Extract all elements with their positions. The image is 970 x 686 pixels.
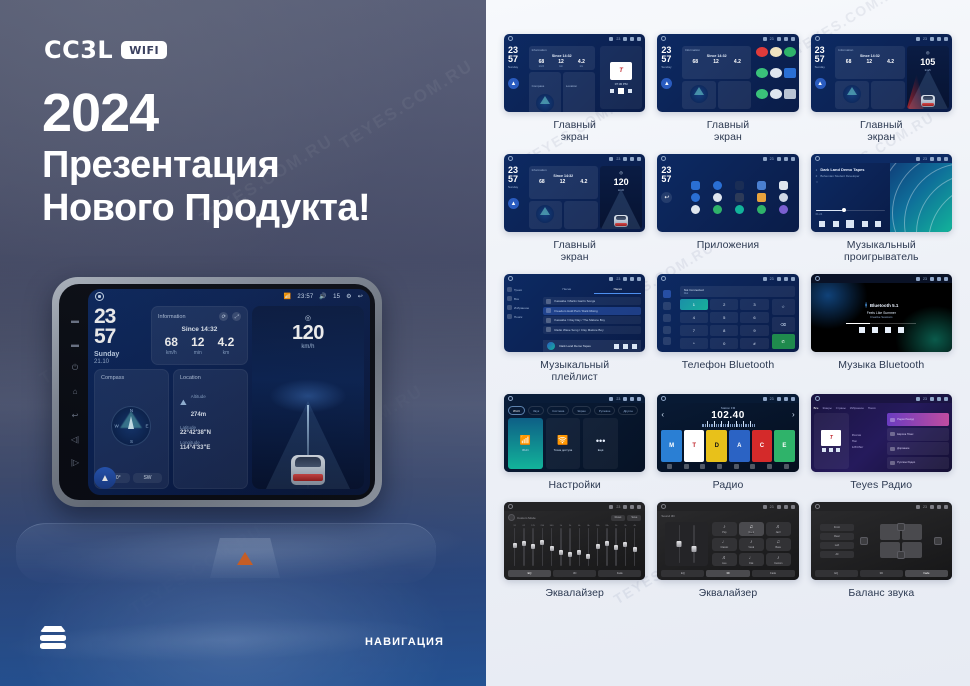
tab-sound[interactable]: Звук <box>528 406 544 415</box>
backspace-icon[interactable]: ⌫ <box>772 317 795 332</box>
slider[interactable] <box>679 525 681 563</box>
list-item[interactable]: Радио Рекорд <box>887 413 949 426</box>
preset-button[interactable]: ♪Pop <box>712 522 737 535</box>
list-item[interactable]: Русское Радио <box>887 457 949 470</box>
all-icon <box>507 296 512 301</box>
location-card[interactable] <box>718 81 752 110</box>
screenshot-home-road-red[interactable]: 23 23 57 Sunday ▲ Information <box>811 34 952 112</box>
back-button[interactable]: ↩ <box>661 192 672 203</box>
dialpad-icon[interactable] <box>663 290 671 298</box>
tab-all[interactable]: Все <box>814 406 819 410</box>
preset-button[interactable]: ♪Custom <box>766 553 791 566</box>
app-item <box>774 205 793 214</box>
preset-buttons[interactable]: ♪Pop ♫Rock ♬Jazz ♩Classic ♪Vocal ♫Bass ♬… <box>712 522 791 566</box>
stat-value: 68 <box>539 179 545 185</box>
preset-tile[interactable]: A <box>729 430 750 462</box>
compass-card[interactable] <box>682 81 716 110</box>
gear-icon[interactable]: ⚙ <box>346 293 352 300</box>
compass-north: N <box>130 408 133 413</box>
head-unit-bezel: ▬ ▬ ⏻ ⌂ ↩ ◁| |▷ <box>59 284 375 500</box>
driving-view-card[interactable]: ◎ 120 km/h <box>600 166 642 229</box>
band-icon <box>667 464 672 469</box>
bluetooth-icon: ᚼ <box>864 303 868 309</box>
location-card[interactable]: Location <box>563 72 595 112</box>
navigation-button[interactable]: ▲ <box>94 467 116 489</box>
location-title: Location <box>180 375 241 381</box>
preset-tile[interactable]: T <box>684 430 705 462</box>
list-item[interactable]: Freedom Hold Part / Dark Rising <box>543 307 641 315</box>
tab-eq[interactable]: EQ <box>815 570 858 577</box>
screenshot-settings[interactable]: 23 Wi-Fi Звук Система Экран Рулевое Друг… <box>504 394 645 472</box>
gallery-row: 23 Custom Mode ResetSave 31 62 <box>504 502 952 599</box>
volume-down-key-icon[interactable]: ◁| <box>71 436 79 444</box>
cell-caption: Баланс звука <box>848 587 914 599</box>
track-artist: Creative Sessions <box>846 315 916 319</box>
settings-icon[interactable] <box>663 337 671 345</box>
back-icon <box>944 37 948 41</box>
altitude-value: 274m <box>191 412 206 418</box>
driving-view-card[interactable]: ◎ 105 km/h <box>907 46 949 109</box>
gallery-cell[interactable]: 23 Треки Все Избранное Поиск Песни <box>504 274 645 383</box>
gallery-cell[interactable]: 23 23 57 Sunday ▲ Information <box>811 34 952 143</box>
compass-card[interactable] <box>529 201 563 230</box>
slider[interactable] <box>693 525 695 563</box>
status-time: 23 <box>616 505 620 509</box>
dial-key[interactable]: 8 <box>710 325 738 336</box>
stat-value: 4.2 <box>734 59 741 65</box>
location-card[interactable] <box>871 81 905 110</box>
pause-icon[interactable] <box>623 344 628 349</box>
preset-tiles[interactable]: M T D A C E <box>661 430 794 462</box>
tab-folders[interactable]: Папки <box>594 287 641 294</box>
settings-icon <box>767 464 772 469</box>
chrome-app-icon <box>691 193 700 202</box>
head-unit-screen[interactable]: 📶 23:57 🔊 15 ⚙ ↩ <box>88 289 370 495</box>
arrow-down-icon[interactable] <box>897 551 905 559</box>
tab-fade[interactable]: Fade <box>905 570 948 577</box>
play-pause-icon[interactable] <box>872 327 878 333</box>
prev-icon[interactable] <box>614 344 619 349</box>
car-illustration <box>921 95 935 107</box>
tab-display[interactable]: Экран <box>572 406 590 415</box>
dial-key[interactable]: 7 <box>680 325 708 336</box>
gallery-cell[interactable]: 23 23 57 Sunday ▲ Information <box>504 34 645 143</box>
more-icon: ••• <box>596 436 605 446</box>
information-card[interactable]: Information Since 14:32 68 12 4.2 <box>835 46 904 79</box>
clock-widget[interactable]: 23 57 Sunday 21.10 <box>94 306 146 365</box>
cell-caption: Главный экран <box>707 119 750 143</box>
rds-icon <box>734 464 739 469</box>
settings-card-hotspot[interactable]: 🛜 Точка доступа <box>546 418 581 469</box>
settings-pane[interactable]: Wi-Fi Звук Система Экран Рулевое Другое <box>504 403 645 472</box>
preset-front[interactable]: Front <box>820 524 855 531</box>
dial-key[interactable]: 4 <box>680 312 708 323</box>
dial-key[interactable]: 5 <box>710 312 738 323</box>
wifi-icon <box>916 157 920 161</box>
gallery-cell[interactable]: 23 23 57 Sunday ▲ Information <box>504 154 645 263</box>
power-key-icon[interactable]: ⏻ <box>72 364 78 372</box>
radio-pane[interactable]: Station FM 102.40 ‹ › <box>657 403 798 472</box>
screenshot-home-road[interactable]: 23 23 57 Sunday ▲ Information <box>504 154 645 232</box>
now-playing-bar[interactable]: Dark Land Demo Tapes <box>543 340 641 352</box>
list-item[interactable]: Европа Плюс <box>887 428 949 441</box>
stat-unit: km <box>578 65 585 68</box>
pause-icon[interactable] <box>618 88 624 94</box>
balance-presets[interactable]: Front Rear Left All <box>820 524 855 558</box>
screenshot-teyes-radio[interactable]: 23 Все Жанры Страны Избранное Поиск <box>811 394 952 472</box>
home-icon <box>815 36 820 41</box>
information-card[interactable]: Information ⟳ ⤢ Since 14:32 <box>151 306 248 365</box>
power-icon <box>784 464 789 469</box>
list-item[interactable]: Kassaba / Clay Day / The Malone Boy <box>543 316 641 324</box>
compass-dial <box>843 85 861 103</box>
cell-caption: Радио <box>713 479 744 491</box>
altitude-label: Altitude <box>191 394 206 399</box>
gallery-cell[interactable]: 23 ᚼBluetooth 5.1 Feels Like Summer Crea… <box>811 274 952 383</box>
next-icon[interactable] <box>628 89 632 93</box>
preset-tile[interactable]: C <box>752 430 773 462</box>
bt-music-pane[interactable]: ᚼBluetooth 5.1 Feels Like Summer Creativ… <box>811 283 952 352</box>
file-manager-app-icon <box>757 193 766 202</box>
eq-mode-tabs[interactable]: EQ 3D Fade <box>661 570 794 577</box>
gallery-cell[interactable]: 23 Not Connected <box>657 274 798 383</box>
preset-button[interactable]: ♪Vocal <box>739 538 764 551</box>
app-item <box>708 181 727 190</box>
next-icon[interactable] <box>862 221 868 227</box>
dial-key[interactable]: 9 <box>740 325 768 336</box>
settings-tabs[interactable]: Wi-Fi Звук Система Экран Рулевое Другое <box>508 406 641 415</box>
gear-icon <box>937 37 941 41</box>
trip-since-label: Since 14:32 <box>532 174 595 178</box>
information-card[interactable]: Information Since 14:32 68km/h 12min 4.2… <box>529 46 595 70</box>
speed-unit: km/h <box>618 188 624 192</box>
radio-toolbar[interactable] <box>661 462 794 469</box>
album-mark: T <box>619 68 623 74</box>
gallery-cell[interactable]: 23 Wi-Fi Звук Система Экран Рулевое Друг… <box>504 394 645 491</box>
preset-button[interactable]: ♫Bass <box>766 538 791 551</box>
back-icon <box>637 37 641 41</box>
location-card[interactable] <box>564 201 598 230</box>
save-button[interactable]: Save <box>627 515 641 521</box>
location-card[interactable]: Location ⛰ Altitude 274m <box>173 369 248 489</box>
trip-since-label: Since 14:32 <box>838 54 901 58</box>
bluetooth-icon[interactable] <box>663 302 671 310</box>
expand-icon[interactable]: ⤢ <box>232 312 241 321</box>
station-list[interactable]: Радио Рекорд Европа Плюс Дорожное Русско… <box>887 413 949 469</box>
list-item[interactable]: Дорожное <box>887 442 949 455</box>
preset-left[interactable]: Left <box>820 542 855 549</box>
preset-tile[interactable]: E <box>774 430 795 462</box>
level-sliders[interactable] <box>665 522 708 566</box>
dial-key[interactable]: 0 <box>710 338 738 349</box>
compass-card[interactable]: Compass <box>529 72 561 112</box>
track-icon <box>546 308 551 313</box>
speed-value: 105 <box>920 57 935 67</box>
arrow-right-icon[interactable] <box>934 537 942 545</box>
tab-fade[interactable]: Fade <box>598 570 641 577</box>
speed-value: 120 <box>614 177 629 187</box>
bt-sub-text: Dial <box>684 292 791 295</box>
plus-key-icon[interactable]: ▬ <box>71 341 79 349</box>
screenshot-apps[interactable]: 23 23 57 ↩ <box>657 154 798 232</box>
eq-band: 1k <box>556 525 565 566</box>
sidebar-item: Поиск <box>507 314 536 319</box>
gallery-row: 23 23 57 Sunday ▲ Information <box>504 154 952 263</box>
screenshot-music-player[interactable]: 23 1Dark Land Demo Tapes 2Bohemian Stude… <box>811 154 952 232</box>
navigation-button[interactable]: ▲ <box>815 78 826 89</box>
status-time: 23 <box>923 277 927 281</box>
tab-3d[interactable]: 3D <box>553 570 596 577</box>
shuffle-icon[interactable] <box>819 221 825 227</box>
preset-button[interactable]: ♩Flat <box>739 553 764 566</box>
volume-icon <box>623 157 627 161</box>
arrow-left-icon[interactable] <box>860 537 868 545</box>
wifi-icon <box>609 505 613 509</box>
prev-icon[interactable] <box>822 448 826 452</box>
hero-panel: TEYES.COM.RU TEYES.COM.RU TEYES.COM.RU T… <box>0 0 486 686</box>
screenshot-home-music[interactable]: 23 23 57 Sunday ▲ Information <box>504 34 645 112</box>
balance-stage[interactable] <box>859 524 943 558</box>
home-key-icon[interactable]: ⌂ <box>73 388 78 396</box>
home-icon[interactable] <box>95 292 104 301</box>
navigation-button[interactable]: ▲ <box>661 78 672 89</box>
next-icon[interactable] <box>632 344 637 349</box>
tab-genres[interactable]: Жанры <box>822 406 831 410</box>
status-time: 23 <box>616 157 620 161</box>
compass-card[interactable] <box>835 81 869 110</box>
dial-key[interactable]: * <box>680 338 708 349</box>
eq-mode-tabs[interactable]: EQ 3D Fade <box>508 570 641 577</box>
tab-other[interactable]: Другое <box>618 406 638 415</box>
gallery-cell[interactable]: 23 23 57 Sunday ▲ Information <box>657 34 798 143</box>
track-icon <box>546 318 551 323</box>
stop-icon[interactable] <box>885 327 891 333</box>
head-unit: ▬ ▬ ⏻ ⌂ ↩ ◁| |▷ <box>52 277 382 507</box>
gallery-cell[interactable]: 23 Все Жанры Страны Избранное Поиск <box>811 394 952 491</box>
list-item[interactable]: Kassaba / Martin Garrix Songs <box>543 297 641 305</box>
tab-wifi[interactable]: Wi-Fi <box>508 406 525 415</box>
app-item <box>708 205 727 214</box>
preset-knob-icon[interactable] <box>508 514 515 521</box>
preset-button[interactable]: ♬Live <box>712 553 737 566</box>
app-drawer[interactable] <box>680 163 799 232</box>
next-station-icon[interactable]: › <box>792 410 795 419</box>
playlist-sidebar[interactable]: Треки Все Избранное Поиск <box>504 283 539 352</box>
navigation-button[interactable]: ▲ <box>508 78 519 89</box>
clock-day: Sunday <box>508 185 525 189</box>
information-card[interactable]: Information Since 14:32 68 12 4.2 <box>529 166 598 199</box>
cell-caption: Телефон Bluetooth <box>682 359 775 371</box>
gear-icon <box>630 157 634 161</box>
home-lower-row: Compass N S E <box>94 369 248 489</box>
clock-widget: 23 57 Sunday ▲ <box>811 43 834 112</box>
call-icon[interactable]: ✆ <box>772 334 795 349</box>
screenshot-equalizer-3d[interactable]: 23 Sound 3D ♪Pop <box>657 502 798 580</box>
information-card[interactable]: Information Since 14:32 68 12 4.2 <box>682 46 752 79</box>
tab-steering[interactable]: Рулевое <box>594 406 616 415</box>
music-widget[interactable]: T 07:30 PM <box>600 46 642 109</box>
stat-unit: km <box>218 350 235 356</box>
driving-view-card[interactable]: ◎ 120 km/h <box>252 306 364 489</box>
gear-icon <box>784 37 788 41</box>
eq-band: 16k <box>593 525 602 566</box>
navigation-button[interactable]: ▲ <box>508 198 519 209</box>
equalizer-pane[interactable]: Custom Mode ResetSave 31 62 125 250 500 <box>504 511 645 580</box>
prev-icon[interactable] <box>610 89 614 93</box>
app-item <box>752 205 771 214</box>
progress-slider[interactable] <box>816 210 885 212</box>
frequency-scale[interactable] <box>661 420 794 427</box>
dial-key[interactable]: 2 <box>710 299 738 310</box>
screenshot-home-apps[interactable]: 23 23 57 Sunday ▲ Information <box>657 34 798 112</box>
screenshot-radio[interactable]: 23 Station FM 102.40 ‹ › <box>657 394 798 472</box>
list-item[interactable]: Radio Wave Song / Clay Malone Boy <box>543 326 641 334</box>
bt-sidebar[interactable] <box>657 283 675 352</box>
screenshot-bt-phone[interactable]: 23 Not Connected <box>657 274 798 352</box>
dial-key[interactable]: 3 <box>740 299 768 310</box>
arrow-up-icon[interactable] <box>897 523 905 531</box>
refresh-icon[interactable]: ⟳ <box>219 312 228 321</box>
stat-unit: km/h <box>165 350 178 356</box>
equalizer-3d-pane[interactable]: Sound 3D ♪Pop ♫Rock ♬Jaz <box>657 511 798 580</box>
favorite-icon[interactable]: ☆ <box>816 180 819 184</box>
navigation-label: НАВИГАЦИЯ <box>365 636 444 648</box>
playlist-main[interactable]: Песни Папки Kassaba / Martin Garrix Song… <box>539 283 645 352</box>
progress-slider[interactable] <box>846 323 916 324</box>
clock-and-info: 23 57 Sunday 21.10 Information <box>94 306 248 365</box>
maps-app-icon <box>713 205 722 214</box>
volume-icon <box>930 157 934 161</box>
clock-minutes: 57 <box>94 327 146 347</box>
volume-icon <box>623 37 627 41</box>
music-info-pane[interactable]: 1Dark Land Demo Tapes 2Bohemian Student … <box>811 163 890 232</box>
compass-south: S <box>130 439 133 444</box>
dial-key[interactable]: # <box>740 338 768 349</box>
compass-title: Compass <box>532 84 545 88</box>
back-icon[interactable]: ↩ <box>358 293 363 300</box>
bt-version-label: Bluetooth 5.1 <box>870 303 899 308</box>
dial-pane[interactable]: Not Connected Dial 1 2 3 4 5 <box>676 283 799 352</box>
prev-icon[interactable] <box>859 327 865 333</box>
next-icon[interactable] <box>898 327 904 333</box>
tab-eq[interactable]: EQ <box>508 570 551 577</box>
card-label: Wi-Fi <box>522 448 529 452</box>
preset-tile[interactable]: M <box>661 430 682 462</box>
search-icon[interactable] <box>663 314 671 322</box>
dial-key[interactable]: 6 <box>740 312 768 323</box>
back-icon <box>944 277 948 281</box>
tab-songs[interactable]: Песни <box>543 287 590 294</box>
tab-search[interactable]: Поиск <box>868 406 876 410</box>
volume-icon <box>777 37 781 41</box>
settings-card-more[interactable]: ••• Ещё <box>583 418 618 469</box>
gear-icon <box>937 277 941 281</box>
balance-pane[interactable]: Front Rear Left All <box>811 511 952 580</box>
eq-band: 4k <box>575 525 584 566</box>
screenshot-equalizer[interactable]: 23 Custom Mode ResetSave 31 62 <box>504 502 645 580</box>
call-log-icon[interactable] <box>663 326 671 334</box>
minus-key-icon[interactable]: ▬ <box>71 317 79 325</box>
page-title: 2024 Презентация Нового Продукта! <box>42 86 370 229</box>
eq-band-sliders[interactable]: 31 62 125 250 500 1k 2k 4k 8k 16k <box>508 523 641 568</box>
volume-icon <box>777 277 781 281</box>
trip-since-label: Since 14:32 <box>158 326 241 333</box>
reset-button[interactable]: Reset <box>611 515 626 521</box>
gallery-cell[interactable]: 23 Custom Mode ResetSave 31 62 <box>504 502 645 599</box>
volume-up-key-icon[interactable]: |▷ <box>71 459 79 467</box>
cell-caption: Эквалайзер <box>699 587 758 599</box>
preset-button[interactable]: ♬Jazz <box>766 522 791 535</box>
preset-button[interactable]: ♩Classic <box>712 538 737 551</box>
eq-band: 250 <box>538 525 547 566</box>
dialpad[interactable]: 1 2 3 4 5 6 7 8 9 * <box>680 299 769 349</box>
gallery-cell[interactable]: 23 Sound 3D ♪Pop <box>657 502 798 599</box>
prev-icon[interactable] <box>833 221 839 227</box>
favorite-icon[interactable]: ☆ <box>772 299 795 314</box>
screenshot-bt-music[interactable]: 23 ᚼBluetooth 5.1 Feels Like Summer Crea… <box>811 274 952 352</box>
compass-dial <box>690 85 708 103</box>
gallery-cell[interactable]: 23 23 57 ↩ <box>657 154 798 263</box>
tab-system[interactable]: Система <box>547 406 569 415</box>
station-icon <box>890 432 895 436</box>
gear-icon <box>630 37 634 41</box>
gallery-cell[interactable]: 23 1Dark Land Demo Tapes 2Bohemian Stude… <box>811 154 952 263</box>
teyes-radio-pane[interactable]: Все Жанры Страны Избранное Поиск T <box>811 403 952 472</box>
preset-tile[interactable]: D <box>706 430 727 462</box>
tab-countries[interactable]: Страны <box>836 406 846 410</box>
tab-3d[interactable]: 3D <box>860 570 903 577</box>
app-shortcuts[interactable] <box>753 43 798 112</box>
prev-station-icon[interactable]: ‹ <box>661 410 664 419</box>
wifi-icon <box>763 277 767 281</box>
pause-icon[interactable] <box>846 220 854 228</box>
dial-key[interactable]: 1 <box>680 299 708 310</box>
wifi-icon <box>763 37 767 41</box>
wifi-icon <box>609 37 613 41</box>
screenshot-playlist[interactable]: 23 Треки Все Избранное Поиск Песни <box>504 274 645 352</box>
trip-since-label: Since 14:32 <box>532 54 592 58</box>
next-icon[interactable] <box>836 448 840 452</box>
wifi-icon <box>609 157 613 161</box>
music-player-app-icon <box>735 205 744 214</box>
gallery-cell[interactable]: 23 Station FM 102.40 ‹ › <box>657 394 798 491</box>
playlist-icon[interactable] <box>875 221 881 227</box>
tab-eq[interactable]: EQ <box>661 570 704 577</box>
screenshot-balance[interactable]: 23 Front Rear Left All <box>811 502 952 580</box>
tab-3d[interactable]: 3D <box>706 570 749 577</box>
teyes-radio-tabs[interactable]: Все Жанры Страны Избранное Поиск <box>814 406 949 410</box>
cell-caption: Музыкальный проигрыватель <box>844 239 919 263</box>
eq-mode-tabs[interactable]: EQ 3D Fade <box>815 570 948 577</box>
tab-favorites[interactable]: Избранное <box>850 406 864 410</box>
back-key-icon[interactable]: ↩ <box>72 412 79 420</box>
preset-button[interactable]: ♫Rock <box>739 522 764 535</box>
volume-icon <box>930 397 934 401</box>
app-item <box>730 181 749 190</box>
tab-fade[interactable]: Fade <box>752 570 795 577</box>
head-unit-side-keys[interactable]: ▬ ▬ ⏻ ⌂ ↩ ◁| |▷ <box>62 289 88 495</box>
stop-icon[interactable] <box>829 448 833 452</box>
card-label: Ещё <box>598 448 604 452</box>
play-store-app-icon <box>757 205 766 214</box>
app-item <box>730 193 749 202</box>
settings-card-wifi[interactable]: 📶 Wi-Fi <box>508 418 543 469</box>
hazard-button[interactable] <box>210 538 280 578</box>
preset-all[interactable]: All <box>820 551 855 558</box>
gallery-cell[interactable]: 23 Front Rear Left All <box>811 502 952 599</box>
sidebar-item: Избранное <box>507 305 536 310</box>
preset-rear[interactable]: Rear <box>820 533 855 540</box>
